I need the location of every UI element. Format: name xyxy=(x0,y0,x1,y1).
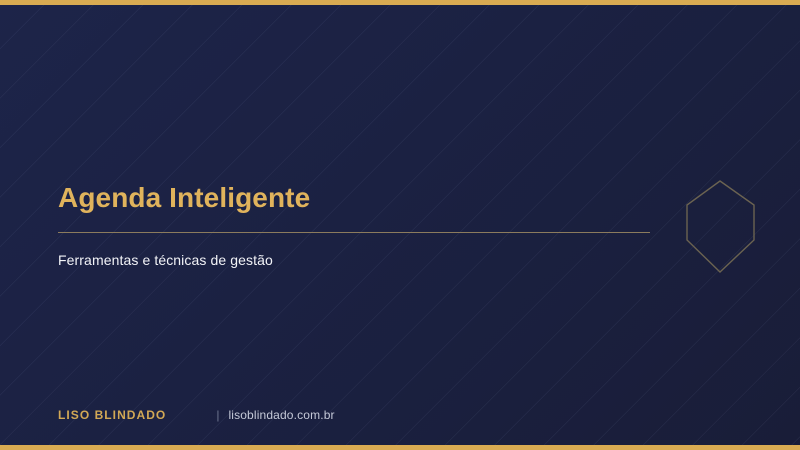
top-accent-bar xyxy=(0,0,800,5)
slide-subtitle: Ferramentas e técnicas de gestão xyxy=(58,233,658,268)
footer-separator: | xyxy=(216,408,219,422)
slide-content: Agenda Inteligente Ferramentas e técnica… xyxy=(58,182,658,268)
brand-name: LISO BLINDADO xyxy=(58,408,166,422)
page-title: Agenda Inteligente xyxy=(58,182,658,213)
bottom-accent-bar xyxy=(0,445,800,450)
presentation-slide: Agenda Inteligente Ferramentas e técnica… xyxy=(0,0,800,450)
website-url: lisoblindado.com.br xyxy=(228,408,334,422)
slide-footer: LISO BLINDADO | lisoblindado.com.br xyxy=(58,408,335,422)
hexagon-outline-icon xyxy=(682,176,760,278)
